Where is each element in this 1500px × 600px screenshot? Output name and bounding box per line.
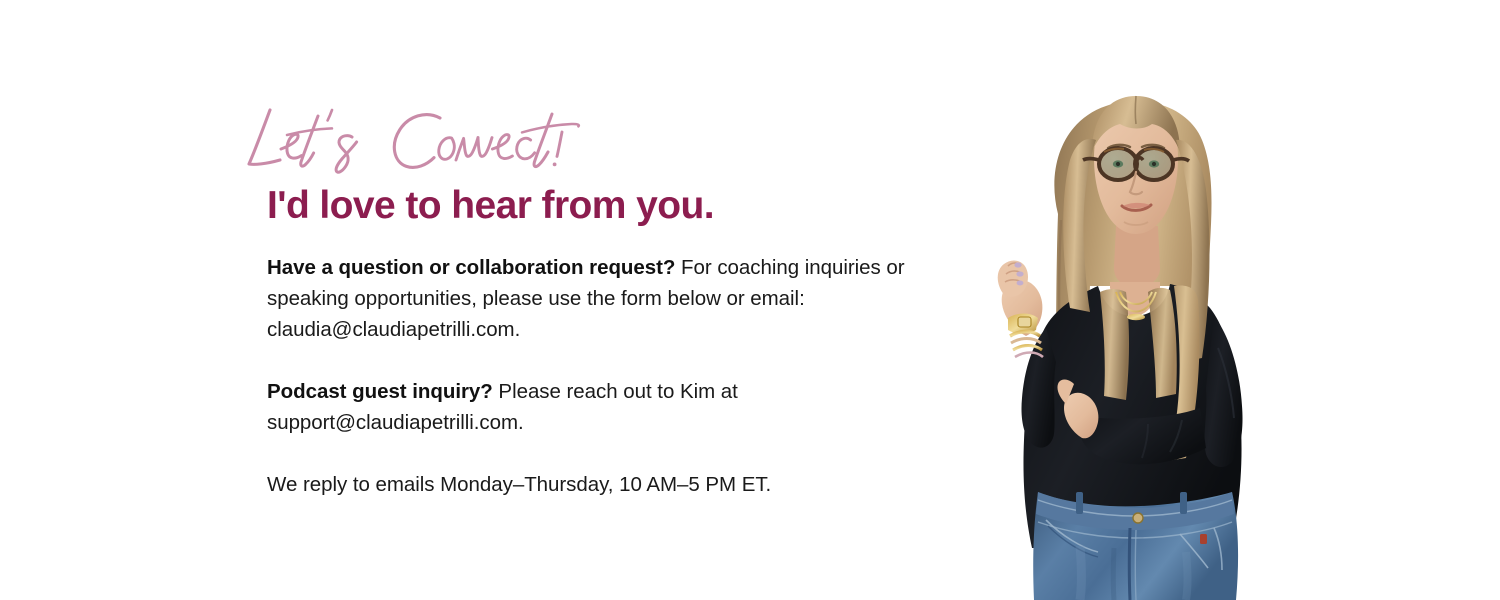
page-title: I'd love to hear from you. bbox=[267, 184, 714, 228]
paragraph-lead: Podcast guest inquiry? bbox=[267, 380, 493, 403]
portrait-photo: Woman with long blonde hair wearing tort… bbox=[930, 0, 1330, 600]
paragraph-lead: Have a question or collaboration request… bbox=[267, 256, 675, 279]
script-heading: Let's Connect! bbox=[240, 104, 600, 182]
contact-section: Let's Connect! bbox=[0, 0, 1500, 600]
paragraph-question: Have a question or collaboration request… bbox=[267, 252, 957, 345]
body-copy: Have a question or collaboration request… bbox=[267, 252, 957, 500]
paragraph-text: We reply to emails Monday–Thursday, 10 A… bbox=[267, 473, 771, 496]
paragraph-hours: We reply to emails Monday–Thursday, 10 A… bbox=[267, 469, 887, 500]
paragraph-podcast: Podcast guest inquiry? Please reach out … bbox=[267, 376, 827, 438]
